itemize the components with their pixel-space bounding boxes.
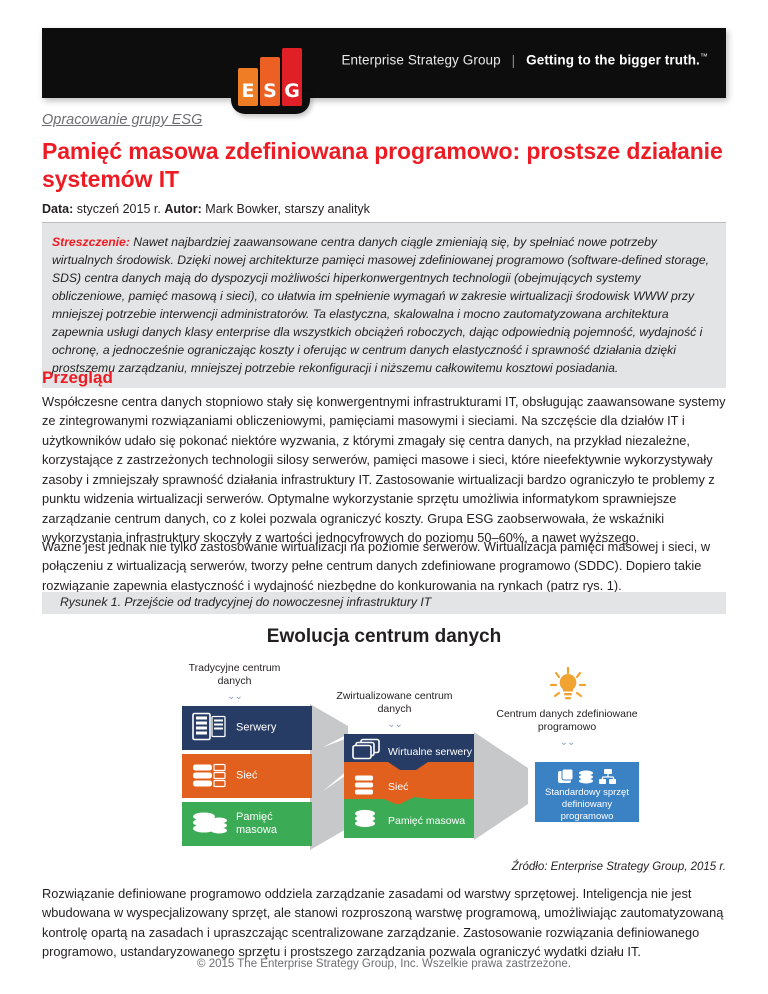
figure-box-label: Wirtualne serwery xyxy=(388,746,472,758)
title-block: Opracowanie grupy ESG Pamięć masowa zdef… xyxy=(42,100,726,216)
page-footer: © 2015 The Enterprise Strategy Group, In… xyxy=(0,958,768,970)
logo-letter-s: S xyxy=(260,82,280,101)
storage-disks-icon xyxy=(192,809,228,840)
chevron-down-icon-traditional: ⌄⌄ xyxy=(172,692,297,702)
figure-box-label: Sieć xyxy=(236,769,257,782)
logo-bar-e: E xyxy=(238,68,258,106)
column-label-virtualized-text: Zwirtualizowane centrum danych xyxy=(336,690,452,715)
figure-box-virtual-network: Sieć xyxy=(344,770,474,804)
virtual-machines-icon xyxy=(352,739,382,766)
overview-paragraph-1-wrap: Współczesne centra danych stopniowo stał… xyxy=(42,392,726,560)
figure-source: Źródło: Enterprise Strategy Group, 2015 … xyxy=(512,861,726,873)
closing-paragraph: Rozwiązanie definiowane programowo oddzi… xyxy=(42,884,726,962)
logo-bar-s: S xyxy=(260,57,280,106)
figure-box-label: Pamięć masowa xyxy=(388,815,465,827)
section-heading-overview: Przegląd xyxy=(42,368,113,388)
network-switch-icon xyxy=(352,774,378,801)
column-label-traditional: Tradycyjne centrum danych ⌄⌄ xyxy=(172,662,297,702)
chevron-down-icon-virtualized: ⌄⌄ xyxy=(332,720,457,730)
figure-box-traditional-servers: Serwery xyxy=(182,706,312,750)
header-tagline: Enterprise Strategy Group | Getting to t… xyxy=(341,52,708,68)
byline-date-value: styczeń 2015 r. xyxy=(77,202,161,216)
logo-bar-g: G xyxy=(282,48,302,106)
byline-date-label: Data: xyxy=(42,202,73,216)
trademark-symbol: ™ xyxy=(700,52,708,61)
byline: Data: styczeń 2015 r. Autor: Mark Bowker… xyxy=(42,202,726,216)
figure-caption: Rysunek 1. Przejście od tradycyjnej do n… xyxy=(42,592,726,614)
network-switch-icon xyxy=(192,761,226,792)
server-rack-icon xyxy=(192,712,226,745)
figure-box-virtual-storage: Pamięć masowa xyxy=(344,804,474,838)
document-header: E S G Enterprise Strategy Group | Gettin… xyxy=(42,28,726,98)
commodity-hardware-icon xyxy=(535,769,639,785)
byline-author-value: Mark Bowker, starszy analityk xyxy=(205,202,370,216)
figure-box-traditional-storage: Pamięć masowa xyxy=(182,802,312,846)
figure-box-traditional-network: Sieć xyxy=(182,754,312,798)
chevron-down-icon-sddc: ⌄⌄ xyxy=(477,738,657,748)
closing-paragraph-wrap: Rozwiązanie definiowane programowo oddzi… xyxy=(42,884,726,962)
esg-logo: E S G xyxy=(238,46,302,106)
abstract-text: Streszczenie: Nawet najbardziej zaawanso… xyxy=(52,233,716,377)
lightbulb-icon xyxy=(548,666,588,706)
logo-letter-e: E xyxy=(238,82,258,101)
figure-stack-virtualized: Wirtualne serwery Sieć xyxy=(344,734,474,838)
column-label-traditional-text: Tradycyjne centrum danych xyxy=(189,662,281,687)
figure-box-label: Standardowy sprzęt definiowany programow… xyxy=(535,787,639,823)
tagline-company: Enterprise Strategy Group xyxy=(341,53,500,68)
column-label-sddc-text: Centrum danych zdefiniowane programowo xyxy=(496,708,637,733)
document-kicker: Opracowanie grupy ESG xyxy=(42,100,726,128)
tagline-separator: | xyxy=(512,53,516,68)
overview-paragraph-2: Ważne jest jednak nie tylko zastosowanie… xyxy=(42,537,726,595)
figure-box-sddc-hardware: Standardowy sprzęt definiowany programow… xyxy=(535,762,639,822)
overview-paragraph-1: Współczesne centra danych stopniowo stał… xyxy=(42,392,726,548)
page-title: Pamięć masowa zdefiniowana programowo: p… xyxy=(42,137,726,193)
storage-disks-icon xyxy=(352,808,378,835)
abstract-lead-label: Streszczenie: xyxy=(52,235,130,249)
figure-title: Ewolucja centrum danych xyxy=(42,626,726,648)
abstract-body: Nawet najbardziej zaawansowane centra da… xyxy=(52,235,709,375)
figure-box-label: Pamięć masowa xyxy=(236,811,312,837)
abstract-box: Streszczenie: Nawet najbardziej zaawanso… xyxy=(42,222,726,388)
column-label-sddc: Centrum danych zdefiniowane programowo ⌄… xyxy=(477,708,657,748)
tagline-slogan: Getting to the bigger truth. xyxy=(526,53,700,68)
figure-box-virtual-servers: Wirtualne serwery xyxy=(344,734,474,770)
logo-letter-g: G xyxy=(282,82,302,101)
figure-box-label: Sieć xyxy=(388,781,408,793)
figure-box-label: Serwery xyxy=(236,721,276,734)
column-label-virtualized: Zwirtualizowane centrum danych ⌄⌄ xyxy=(332,690,457,730)
figure-1: Ewolucja centrum danych Tradycyjne centr… xyxy=(42,618,726,858)
byline-author-label: Autor: xyxy=(164,202,202,216)
